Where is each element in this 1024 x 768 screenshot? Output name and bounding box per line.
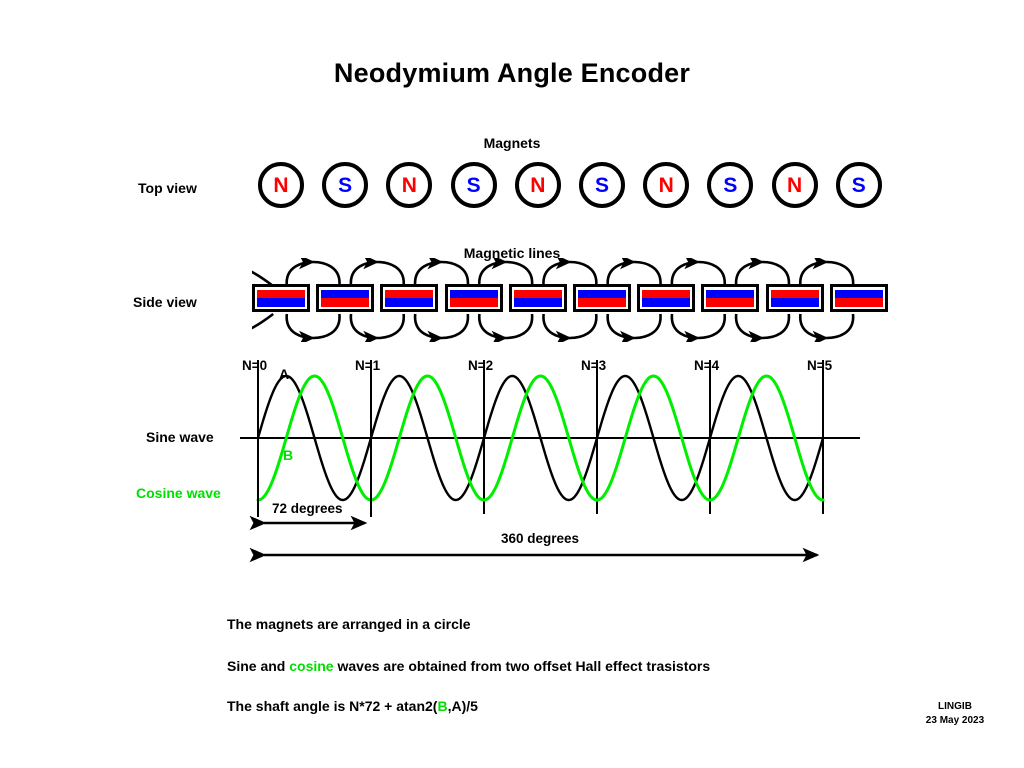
bar-magnet-bottom-pole	[514, 298, 562, 307]
caption-run: The shaft angle is N*72 + atan2(	[227, 698, 437, 714]
caption-run: B	[437, 698, 447, 714]
magnet-pole-letter: S	[852, 175, 866, 196]
bar-magnet-0	[252, 284, 310, 312]
magnet-circle-n-2: N	[386, 162, 432, 208]
bar-magnet-1	[316, 284, 374, 312]
waveform-chart	[240, 358, 860, 518]
cosine-curve-label: B	[283, 447, 293, 463]
magnet-circle-n-6: N	[643, 162, 689, 208]
total-dimension-label: 360 degrees	[28, 531, 1024, 546]
magnet-pole-letter: S	[338, 175, 352, 196]
top-view-label: Top view	[138, 180, 197, 196]
magnet-circle-n-4: N	[515, 162, 561, 208]
waveform-svg	[240, 358, 860, 518]
magnet-pole-letter: S	[723, 175, 737, 196]
n-tick-label-0: N=0	[242, 358, 267, 373]
magnet-pole-letter: N	[402, 175, 417, 196]
bar-magnet-bottom-pole	[257, 298, 305, 307]
magnet-pole-letter: N	[787, 175, 802, 196]
n-tick-label-2: N=2	[468, 358, 493, 373]
magnet-circle-n-8: N	[772, 162, 818, 208]
bar-magnet-bottom-pole	[771, 298, 819, 307]
side-view-label: Side view	[133, 294, 197, 310]
caption-run: ,A)/5	[448, 698, 478, 714]
magnet-circle-s-1: S	[322, 162, 368, 208]
bar-magnet-bottom-pole	[385, 298, 433, 307]
magnet-circle-s-9: S	[836, 162, 882, 208]
cosine-wave-label: Cosine wave	[136, 485, 221, 501]
bar-magnet-6	[637, 284, 695, 312]
caption-run: The magnets are arranged in a circle	[227, 616, 471, 632]
sine-wave-label: Sine wave	[146, 429, 214, 445]
magnet-pole-letter: N	[530, 175, 545, 196]
magnet-pole-letter: N	[659, 175, 674, 196]
caption-run: waves are obtained from two offset Hall …	[334, 658, 711, 674]
side-view-magnet-row	[252, 258, 852, 338]
bar-magnet-8	[766, 284, 824, 312]
page-title: Neodymium Angle Encoder	[0, 58, 1024, 89]
magnet-pole-letter: S	[595, 175, 609, 196]
caption-run: Sine and	[227, 658, 289, 674]
bar-magnet-bottom-pole	[450, 298, 498, 307]
bar-magnet-bottom-pole	[321, 298, 369, 307]
n-tick-label-1: N=1	[355, 358, 380, 373]
magnet-circle-n-0: N	[258, 162, 304, 208]
signature-date: 23 May 2023	[900, 714, 1010, 728]
signature-author: LINGIB	[900, 700, 1010, 714]
n-tick-label-4: N=4	[694, 358, 719, 373]
magnet-pole-letter: S	[467, 175, 481, 196]
period-dimension-label: 72 degrees	[272, 501, 343, 516]
bar-magnet-bottom-pole	[706, 298, 754, 307]
bar-magnet-bottom-pole	[642, 298, 690, 307]
bar-magnet-bottom-pole	[578, 298, 626, 307]
magnet-circle-s-5: S	[579, 162, 625, 208]
bar-magnet-3	[445, 284, 503, 312]
caption-line-3: The shaft angle is N*72 + atan2(B,A)/5	[227, 698, 478, 714]
caption-run: cosine	[289, 658, 333, 674]
signature-block: LINGIB 23 May 2023	[900, 700, 1010, 727]
magnets-section-label: Magnets	[0, 135, 1024, 151]
bar-magnet-5	[573, 284, 631, 312]
bar-magnet-7	[701, 284, 759, 312]
n-tick-label-5: N=5	[807, 358, 832, 373]
magnet-circle-s-7: S	[707, 162, 753, 208]
magnet-pole-letter: N	[273, 175, 288, 196]
caption-line-1: The magnets are arranged in a circle	[227, 616, 471, 632]
bar-magnet-bottom-pole	[835, 298, 883, 307]
bar-magnet-9	[830, 284, 888, 312]
bar-magnet-4	[509, 284, 567, 312]
sine-curve-label: A	[279, 366, 289, 382]
caption-line-2: Sine and cosine waves are obtained from …	[227, 658, 710, 674]
top-view-magnet-row: NSNSNSNSNS	[258, 162, 838, 214]
magnet-circle-s-3: S	[451, 162, 497, 208]
bar-magnet-2	[380, 284, 438, 312]
n-tick-label-3: N=3	[581, 358, 606, 373]
